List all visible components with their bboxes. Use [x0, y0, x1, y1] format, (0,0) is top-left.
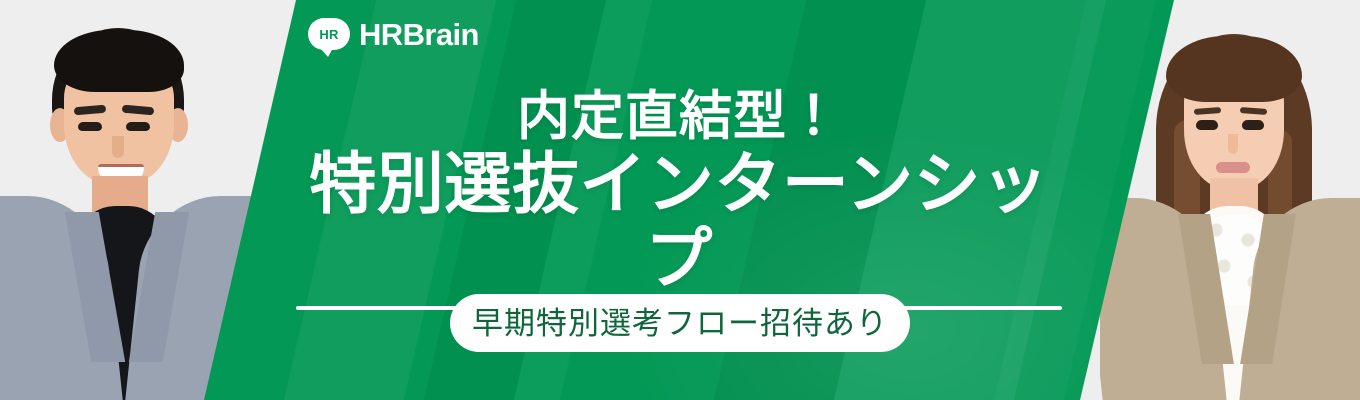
male-eye-left [78, 122, 102, 131]
speech-bubble-icon: HR [308, 18, 350, 50]
female-smile [1216, 162, 1250, 173]
female-nose [1228, 134, 1238, 154]
female-eye-left [1196, 120, 1218, 130]
hrbrain-internship-banner: HR HRBrain 内定直結型！ 特別選抜インターンシップ 早期特別選考フロー… [0, 0, 1360, 400]
male-nose [112, 136, 124, 158]
hrbrain-logo[interactable]: HR HRBrain [308, 18, 479, 50]
female-eye-right [1242, 120, 1264, 130]
logo-bubble-label: HR [319, 28, 338, 41]
male-eye-right [126, 122, 150, 131]
headline-line-1: 内定直結型！ [296, 88, 1062, 145]
status-badge: 早期特別選考フロー招待あり [450, 294, 910, 352]
headline-block: 内定直結型！ 特別選抜インターンシップ [296, 88, 1062, 310]
male-fringe [54, 30, 184, 92]
female-fringe [1166, 36, 1302, 102]
logo-wordmark: HRBrain [359, 19, 479, 50]
headline-line-2: 特別選抜インターンシップ [296, 147, 1062, 297]
status-badge-label: 早期特別選考フロー招待あり [472, 308, 888, 339]
